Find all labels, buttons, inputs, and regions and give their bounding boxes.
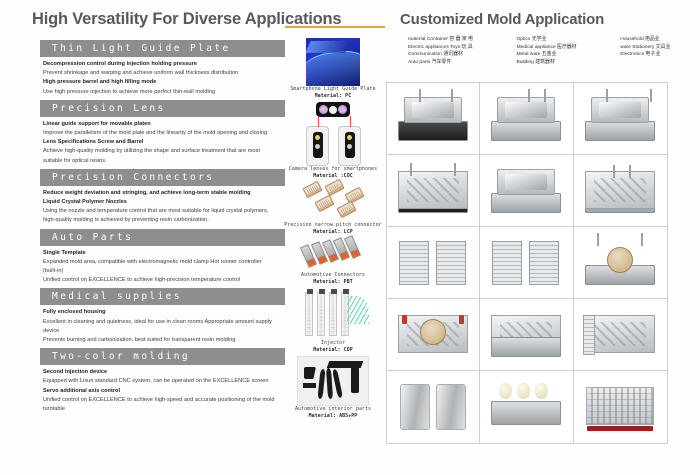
section-body: Second injection device Equipped with Li… xyxy=(40,365,285,414)
section-line: High pressure barrel and high filling mo… xyxy=(43,78,285,87)
phone-camera-icon xyxy=(345,132,355,158)
mold-door-panel xyxy=(436,384,466,430)
callout-line xyxy=(318,116,319,127)
mold-clamp xyxy=(459,315,464,324)
chip-icon xyxy=(314,195,334,213)
section-line: device xyxy=(43,327,285,336)
mold-photo xyxy=(396,165,470,217)
section-body: Linear guide support for movable platen … xyxy=(40,117,285,166)
interior-part-shape xyxy=(317,369,325,399)
mold-side-gate-plate xyxy=(574,299,667,371)
section-auto-parts: Auto Parts Single Template Expanded mold… xyxy=(40,229,285,286)
mold-base xyxy=(491,193,561,213)
category-item: Communication 通讯器材 xyxy=(408,51,506,59)
section-line: Improve the parallelism of the mold plat… xyxy=(43,129,285,138)
category-column-3: Household 用品业 ware Stationery 文具业 Electr… xyxy=(620,36,700,66)
product-material: Material: PC xyxy=(283,93,383,100)
interior-part-shape xyxy=(332,369,343,398)
product-automotive-interior: Automotive interior parts Material: ABS+… xyxy=(283,356,383,420)
section-line: Unified control on EXCELLENCE to achieve… xyxy=(43,396,285,405)
section-line: Second injection device xyxy=(43,368,285,377)
application-sections: Thin Light Guide Plate Decompression con… xyxy=(40,40,285,417)
section-line: Achieve high-quality molding by utilizin… xyxy=(43,147,285,156)
mold-round-core-plate xyxy=(387,299,480,371)
product-material: Material: LCP xyxy=(283,229,383,236)
mold-stack xyxy=(529,241,559,285)
syringe-icon xyxy=(329,292,337,336)
mold-cavity xyxy=(412,102,454,118)
chip-icon xyxy=(324,179,344,197)
category-item: Electronics 电子业 xyxy=(620,51,700,59)
mold-photo xyxy=(396,93,470,145)
section-line: Linear guide support for movable platen xyxy=(43,120,285,129)
mold-egg-cores xyxy=(499,383,553,399)
section-line: Liquid Crystal Polymer Nozzles xyxy=(43,198,285,207)
section-line: high-quality molding is achieved by prev… xyxy=(43,216,285,225)
egg-core-icon xyxy=(535,383,548,399)
chip-icon xyxy=(336,201,356,219)
section-body: Decompression control during injection h… xyxy=(40,57,285,97)
product-injector: Injector Material: COP xyxy=(283,288,383,354)
mold-photo xyxy=(396,381,470,433)
camera-lens-module-photo xyxy=(316,102,350,117)
interior-part-shape xyxy=(351,367,359,393)
lens-dot-icon xyxy=(338,105,347,114)
product-caption: Smartphone Light Guide Plate xyxy=(283,86,383,93)
mold-base xyxy=(398,121,468,141)
section-line: Fully enclosed housing xyxy=(43,308,285,317)
section-precision-lens: Precision Lens Linear guide support for … xyxy=(40,100,285,166)
smartphone-photo xyxy=(338,126,361,166)
category-item: Electric appliances Toys 玩 具 xyxy=(408,44,506,52)
product-samples-column: Smartphone Light Guide Plate Material: P… xyxy=(283,38,383,422)
mold-cavity xyxy=(505,174,547,190)
mold-seat-shell xyxy=(480,83,573,155)
section-line: Decompression control during injection h… xyxy=(43,60,285,69)
mold-red-base-multicavity xyxy=(574,371,667,443)
mold-photo xyxy=(396,309,470,361)
product-automotive-connectors: Automotive Connectors Material: PBT xyxy=(283,238,383,286)
phone-camera-icon xyxy=(313,132,323,158)
needle-icon xyxy=(347,296,369,324)
section-line: suitable for optical resins. xyxy=(43,157,285,166)
section-line: Lens Specifications Screw and Barrel xyxy=(43,138,285,147)
mold-multi-cavity-plate xyxy=(586,387,654,425)
slide-root: High Versatility For Diverse Application… xyxy=(0,0,700,475)
mold-triple-egg-cavity xyxy=(480,371,573,443)
mold-stack xyxy=(436,241,466,285)
mold-door-panel xyxy=(400,384,430,430)
mold-stack xyxy=(399,241,429,285)
category-column-1: material Container 容 器 家 电 Electric appl… xyxy=(408,36,506,66)
mold-photo xyxy=(583,93,657,145)
section-line: Unified control on EXCELLENCE to achieve… xyxy=(43,276,285,285)
section-body: Reduce weight deviation and stringing, a… xyxy=(40,186,285,226)
product-material: Material: COP xyxy=(283,347,383,354)
chip-icon xyxy=(302,181,322,199)
mold-gallery-grid xyxy=(386,82,668,444)
mold-side-block xyxy=(583,315,595,355)
lens-dot-icon xyxy=(329,106,337,114)
syringe-icon xyxy=(317,292,325,336)
mold-plate xyxy=(398,171,468,209)
section-title: Two-color molding xyxy=(40,348,285,365)
syringe-photo xyxy=(293,288,373,340)
egg-core-icon xyxy=(499,383,512,399)
mold-base xyxy=(491,401,561,425)
product-caption: Automotive interior parts xyxy=(283,406,383,413)
section-body: Single Template Expanded mold area, comp… xyxy=(40,246,285,286)
smartphone-photo xyxy=(306,126,329,166)
product-light-guide-plate: Smartphone Light Guide Plate Material: P… xyxy=(283,38,383,100)
mold-cavity xyxy=(505,102,547,118)
mold-hot-runner-stack-pair xyxy=(387,227,480,299)
mold-large-flat-plate xyxy=(480,299,573,371)
page-title-right: Customized Mold Application xyxy=(400,11,604,28)
section-line: Servo additional axis control xyxy=(43,387,285,396)
section-line: (built-in) xyxy=(43,267,285,276)
product-caption: Camera lenses for smartphones xyxy=(283,166,383,173)
mold-photo xyxy=(489,93,563,145)
section-precision-connectors: Precision Connectors Reduce weight devia… xyxy=(40,169,285,226)
section-line: Excellent in cleaning and quietness, ide… xyxy=(43,318,285,327)
mold-door-panel-pair xyxy=(387,371,480,443)
section-line: Expanded mold area, compatible with elec… xyxy=(43,258,285,267)
mold-plate xyxy=(585,171,655,209)
mold-base xyxy=(491,337,561,357)
category-item: Auto parts 汽车零件 xyxy=(408,59,506,67)
mold-photo xyxy=(583,165,657,217)
mold-multi-cavity-pair xyxy=(480,227,573,299)
mold-photo xyxy=(583,237,657,289)
mold-box-cavity xyxy=(574,83,667,155)
automotive-interior-photo xyxy=(297,356,369,406)
category-item: Building 建筑器材 xyxy=(516,59,610,67)
section-line: Single Template xyxy=(43,249,285,258)
category-item: material Container 容 器 家 电 xyxy=(408,36,506,44)
product-material: Material: ABS+PP xyxy=(283,413,383,420)
mold-tray-frame xyxy=(574,155,667,227)
connector-chips-photo xyxy=(296,182,370,222)
section-title: Precision Connectors xyxy=(40,169,285,186)
mold-round-core xyxy=(420,319,446,345)
automotive-connectors-photo xyxy=(298,238,368,272)
industry-category-list: material Container 容 器 家 电 Electric appl… xyxy=(408,36,700,66)
product-caption: Precision narrow pitch connector xyxy=(283,222,383,229)
mold-photo xyxy=(489,309,563,361)
mold-photo xyxy=(583,309,657,361)
lens-dot-icon xyxy=(319,105,328,114)
mold-cavity xyxy=(599,102,641,118)
category-item: Metal ware 五金业 xyxy=(516,51,610,59)
category-column-2: Optics 光学业 Medical appliance 医疗器材 Metal … xyxy=(516,36,610,66)
section-line: Using the nozzle and temperature control… xyxy=(43,207,285,216)
mold-stack xyxy=(492,241,522,285)
category-item: Medical appliance 医疗器材 xyxy=(516,44,610,52)
egg-core-icon xyxy=(517,383,530,399)
section-line: Equipped with Lixun standard CNC system,… xyxy=(43,377,285,386)
product-caption: Automotive Connectors xyxy=(283,272,383,279)
syringe-icon xyxy=(305,292,313,336)
category-item: Household 用品业 xyxy=(620,36,700,44)
mold-photo xyxy=(583,381,657,433)
category-item: ware Stationery 文具业 xyxy=(620,44,700,52)
section-title: Thin Light Guide Plate xyxy=(40,40,285,57)
mold-plate xyxy=(585,315,655,353)
light-guide-plate-photo xyxy=(306,38,360,86)
mold-dark-panel xyxy=(387,155,480,227)
section-line: turntable xyxy=(43,405,285,414)
section-body: Fully enclosed housing Excellent in clea… xyxy=(40,305,285,345)
category-item: Optics 光学业 xyxy=(516,36,610,44)
mold-round-core xyxy=(607,247,633,273)
section-two-color-molding: Two-color molding Second injection devic… xyxy=(40,348,285,414)
product-pitch-connector: Precision narrow pitch connector Materia… xyxy=(283,182,383,236)
mold-round-core-bucket xyxy=(574,227,667,299)
mold-photo xyxy=(489,165,563,217)
interior-part-shape xyxy=(303,383,316,388)
section-line: Prevents burning and carbonization, best… xyxy=(43,336,285,345)
mold-photo xyxy=(396,237,470,289)
callout-line xyxy=(350,116,351,127)
product-caption: Injector xyxy=(283,340,383,347)
mold-base xyxy=(585,121,655,141)
mold-base xyxy=(491,121,561,141)
section-title: Medical supplies xyxy=(40,288,285,305)
section-line: Prevent shrinkage and warping and achiev… xyxy=(43,69,285,78)
mold-bumper-black-base xyxy=(387,83,480,155)
mold-seat-back xyxy=(480,155,573,227)
mold-photo xyxy=(489,237,563,289)
product-camera-lens: Camera lenses for smartphones Material :… xyxy=(283,102,383,180)
section-title: Auto Parts xyxy=(40,229,285,246)
section-thin-light-guide-plate: Thin Light Guide Plate Decompression con… xyxy=(40,40,285,97)
mold-photo xyxy=(489,381,563,433)
mold-clamp xyxy=(402,315,407,324)
product-material: Material :COC xyxy=(283,173,383,180)
title-rule xyxy=(285,26,385,28)
smartphone-photo-pair xyxy=(283,126,383,166)
section-title: Precision Lens xyxy=(40,100,285,117)
mold-red-base xyxy=(587,426,653,431)
section-medical-supplies: Medical supplies Fully enclosed housing … xyxy=(40,288,285,345)
interior-part-shape xyxy=(304,367,316,379)
section-line: Reduce weight deviation and stringing, a… xyxy=(43,189,285,198)
product-material: Material: PBT xyxy=(283,279,383,286)
section-line: Use high pressure injection to achieve m… xyxy=(43,88,285,97)
